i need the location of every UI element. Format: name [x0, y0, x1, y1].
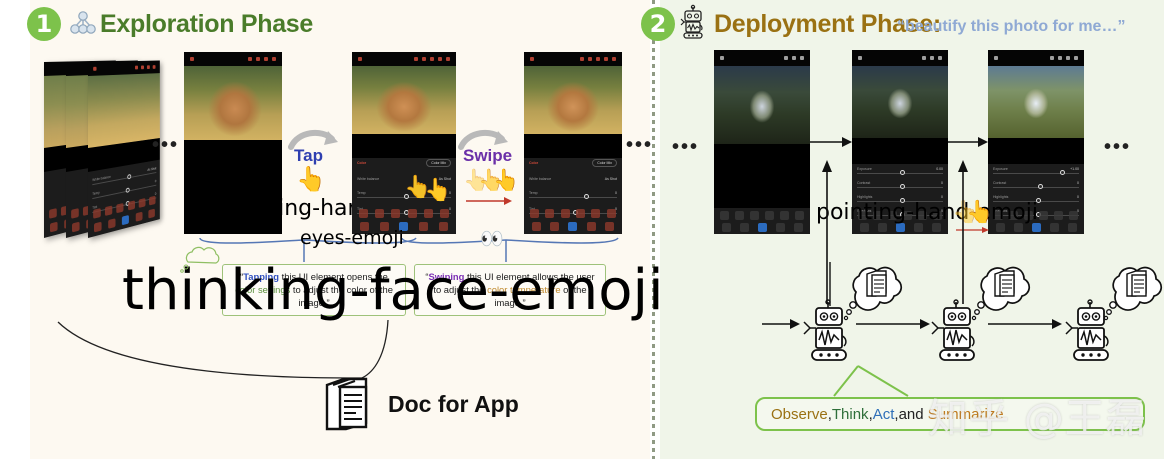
deploy-hand-emoji-1: pointing-hand-emoji — [816, 200, 1038, 225]
observe-think-act-summarize-box: Observe, Think, Act, and Summarize — [755, 397, 1145, 431]
deploy-right-ellipsis: ••• — [1104, 136, 1131, 159]
doc-for-app-label: Doc for App — [388, 391, 519, 418]
tap-label: Tap — [294, 146, 323, 166]
agent-act-arrow-2 — [956, 158, 970, 304]
pointing-hand-emoji-tap-label: 👆 — [296, 165, 326, 193]
deploy-phone-1 — [714, 50, 810, 234]
agent-thought-bubble-3 — [1100, 262, 1164, 324]
agent-flow-arrow-1 — [856, 318, 932, 330]
step-badge-2: 2 — [641, 7, 675, 41]
ota-summarize: Summarize — [928, 406, 1004, 423]
eyes-emoji-tap: eyes-emoji — [300, 227, 404, 249]
exploration-phase-title: Exploration Phase — [100, 10, 313, 39]
agent-observe-line-1 — [828, 262, 832, 306]
swipe-hand-emoji-b2: 👆 — [424, 178, 451, 203]
panel-divider — [652, 0, 655, 459]
phone-transition-arrow-1 — [810, 136, 854, 148]
agent-thought-bubble-1 — [840, 262, 904, 324]
stack-ellipsis: ••• — [152, 134, 179, 157]
hierarchy-tree-icon — [69, 10, 97, 36]
user-instruction-quote: “beautify this photo for me…” — [897, 18, 1125, 36]
agent-entry-arrow — [762, 318, 802, 330]
deploy-hand-emoji-2b: 👆 — [966, 200, 993, 225]
ota-connector — [800, 366, 920, 400]
right-ellipsis: ••• — [626, 134, 653, 157]
figure-root: 1 Exploration Phase 2 Dep — [0, 0, 1164, 459]
agent-flow-arrow-2 — [988, 318, 1064, 330]
phone-screenshot-b: Color Color Mix White balanceAs Shot Tem… — [352, 52, 456, 234]
deploy-left-ellipsis: ••• — [672, 136, 699, 159]
step-badge-1: 1 — [27, 7, 61, 41]
eyes-emoji-swipe: 👀 — [480, 227, 504, 250]
robot-icon — [678, 5, 708, 39]
swipe-hand-emoji-label: 👆 — [493, 168, 519, 193]
document-stack-icon — [322, 377, 380, 435]
ota-act: Act — [873, 406, 895, 423]
stacked-phone-1: White balanceAs Shot Temp0 Tint0 — [88, 61, 160, 238]
thought-cloud-outline-icon — [178, 248, 224, 274]
ota-observe: Observe — [771, 406, 828, 423]
agent-thought-bubble-2 — [968, 262, 1032, 324]
swipe-label: Swipe — [463, 146, 512, 166]
phone-transition-arrow-2 — [948, 136, 990, 148]
phone-screenshot-c: Color Color Mix White balanceAs Shot Tem… — [524, 52, 622, 234]
swipe-direction-arrow — [466, 196, 514, 206]
ota-and: and — [899, 406, 924, 423]
ota-think: Think — [832, 406, 869, 423]
